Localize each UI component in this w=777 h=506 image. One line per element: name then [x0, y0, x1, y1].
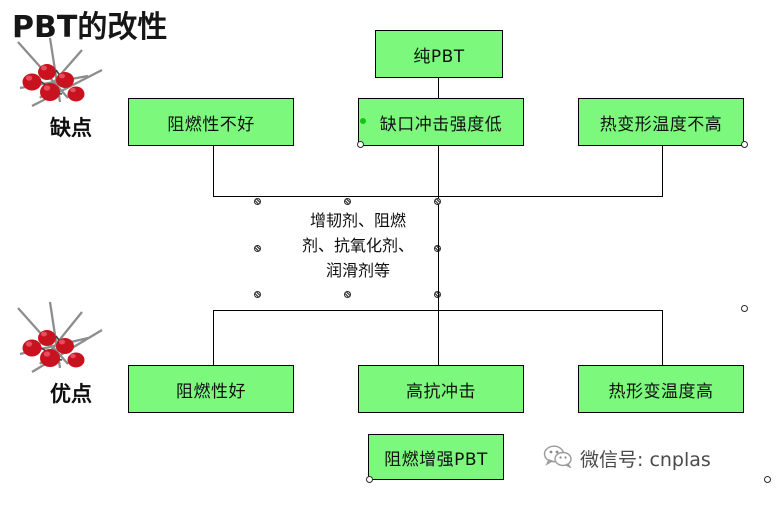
- selection-handle[interactable]: [344, 198, 351, 205]
- selection-handle[interactable]: [434, 198, 441, 205]
- wechat-icon: [543, 444, 573, 473]
- node-merit-high-impact[interactable]: 高抗冲击: [358, 365, 524, 413]
- node-label: 阻燃性好: [176, 377, 246, 402]
- watermark: 微信号: cnplas: [543, 444, 711, 473]
- node-defect-heat-distortion[interactable]: 热变形温度不高: [578, 98, 744, 146]
- red-berry-branch-icon: [8, 300, 112, 386]
- connector-defects-bus: [213, 196, 663, 197]
- side-label-merits: 优点: [50, 378, 92, 408]
- selection-handle[interactable]: [764, 476, 771, 483]
- node-result-fr-reinforced-pbt[interactable]: 阻燃增强PBT: [368, 434, 504, 480]
- connector-merit-2-stem: [438, 310, 439, 365]
- watermark-text: 微信号: cnplas: [580, 445, 711, 472]
- selection-handle[interactable]: [741, 305, 748, 312]
- side-label-defects: 缺点: [50, 112, 92, 142]
- selection-handle[interactable]: [357, 141, 364, 148]
- node-pure-pbt[interactable]: 纯PBT: [375, 30, 503, 78]
- node-label: 热变形温度不高: [600, 110, 723, 135]
- connector-merit-1-stem: [213, 310, 214, 365]
- connector-center-through: [438, 210, 439, 316]
- node-merit-flame-retardant[interactable]: 阻燃性好: [128, 365, 294, 413]
- node-label: 缺口冲击强度低: [380, 110, 503, 135]
- node-label: 高抗冲击: [406, 377, 476, 402]
- selection-handle[interactable]: [741, 141, 748, 148]
- connector-root-stem: [438, 78, 439, 98]
- connector-defect-1-stem: [213, 146, 214, 196]
- node-label: 热形变温度高: [609, 377, 714, 402]
- connector-defect-3-stem: [662, 146, 663, 196]
- selection-handle[interactable]: [366, 476, 373, 483]
- connection-point[interactable]: [360, 118, 366, 124]
- selection-handle[interactable]: [254, 198, 261, 205]
- selection-handle[interactable]: [344, 291, 351, 298]
- additives-note[interactable]: 增韧剂、阻燃 剂、抗氧化剂、 润滑剂等: [258, 208, 458, 283]
- selection-handle[interactable]: [254, 291, 261, 298]
- slide-canvas: PBT的改性: [0, 0, 777, 506]
- connector-merit-3-stem: [662, 310, 663, 365]
- node-merit-heat-resistance[interactable]: 热形变温度高: [578, 365, 744, 413]
- selection-handle[interactable]: [254, 245, 261, 252]
- red-berry-branch-icon: [6, 36, 110, 122]
- node-label: 纯PBT: [413, 42, 464, 67]
- node-label: 阻燃增强PBT: [384, 445, 488, 470]
- node-label: 阻燃性不好: [167, 110, 255, 135]
- node-defect-flammability[interactable]: 阻燃性不好: [128, 98, 294, 146]
- node-defect-notched-impact[interactable]: 缺口冲击强度低: [358, 98, 524, 146]
